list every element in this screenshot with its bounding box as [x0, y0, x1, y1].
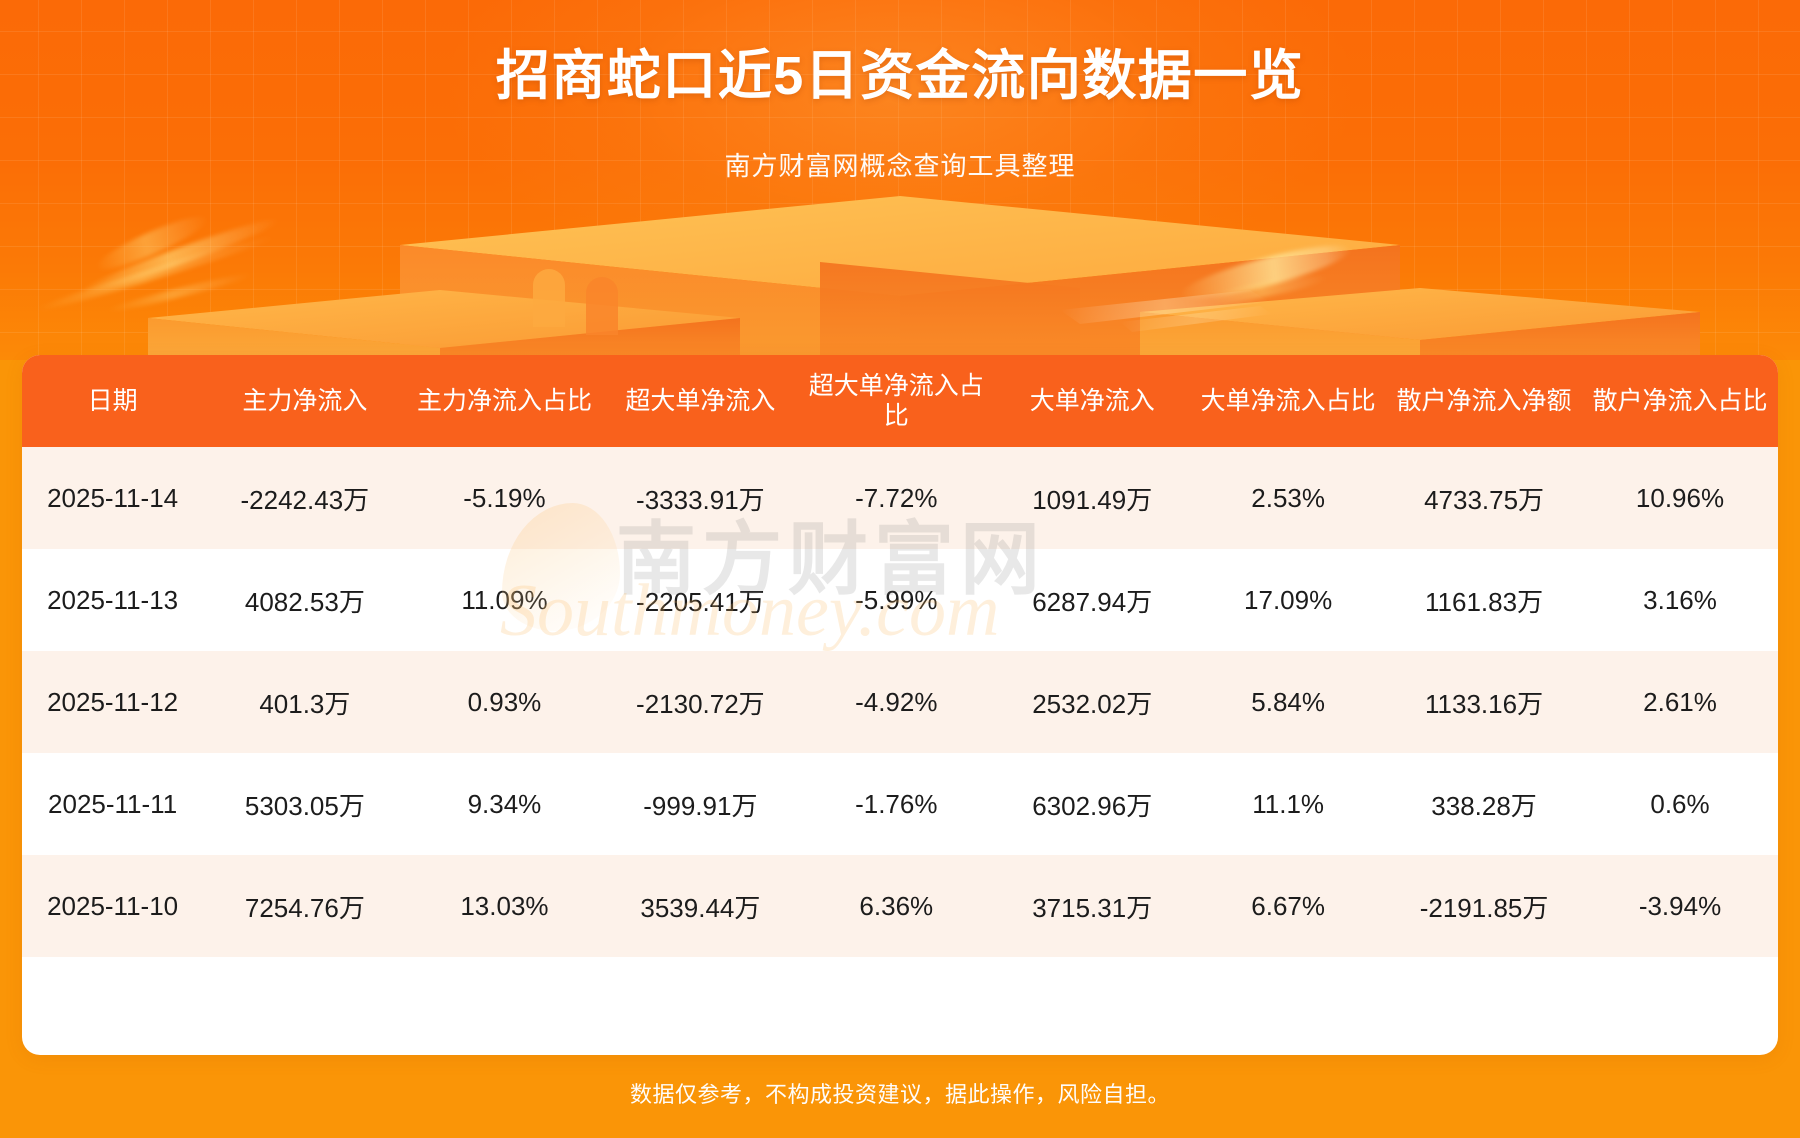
- table-row: 2025-11-134082.53万11.09%-2205.41万-5.99%6…: [22, 549, 1778, 651]
- cell-value: 5303.05万: [203, 753, 406, 855]
- column-header-3[interactable]: 超大单净流入: [602, 355, 798, 447]
- cell-value: 1091.49万: [994, 447, 1190, 549]
- cell-value: 6.36%: [798, 855, 994, 957]
- cell-value: 401.3万: [203, 651, 406, 753]
- page-subtitle: 南方财富网概念查询工具整理: [0, 146, 1800, 183]
- cell-value: 4733.75万: [1386, 447, 1582, 549]
- table-row: 2025-11-12401.3万0.93%-2130.72万-4.92%2532…: [22, 651, 1778, 753]
- cell-value: 11.09%: [406, 549, 602, 651]
- disclaimer-note: 数据仅参考，不构成投资建议，据此操作，风险自担。: [0, 1077, 1800, 1109]
- cell-value: -5.19%: [406, 447, 602, 549]
- cell-date: 2025-11-14: [22, 447, 203, 549]
- cell-value: 3.16%: [1582, 549, 1778, 651]
- cell-value: 13.03%: [406, 855, 602, 957]
- cell-date: 2025-11-12: [22, 651, 203, 753]
- cell-value: 6.67%: [1190, 855, 1386, 957]
- cell-date: 2025-11-13: [22, 549, 203, 651]
- cell-value: 5.84%: [1190, 651, 1386, 753]
- cell-value: -3333.91万: [602, 447, 798, 549]
- column-header-5[interactable]: 大单净流入: [994, 355, 1190, 447]
- cell-value: 3539.44万: [602, 855, 798, 957]
- cell-value: 0.93%: [406, 651, 602, 753]
- cell-value: -2242.43万: [203, 447, 406, 549]
- table-row: 2025-11-14-2242.43万-5.19%-3333.91万-7.72%…: [22, 447, 1778, 549]
- fund-flow-table: 日期主力净流入主力净流入占比超大单净流入超大单净流入占比大单净流入大单净流入占比…: [22, 355, 1778, 957]
- column-header-7[interactable]: 散户净流入净额: [1386, 355, 1582, 447]
- cell-value: 4082.53万: [203, 549, 406, 651]
- cell-value: 0.6%: [1582, 753, 1778, 855]
- page-title: 招商蛇口近5日资金流向数据一览: [0, 44, 1800, 109]
- cell-value: 2.53%: [1190, 447, 1386, 549]
- cell-value: 6287.94万: [994, 549, 1190, 651]
- cell-value: 10.96%: [1582, 447, 1778, 549]
- cell-value: -4.92%: [798, 651, 994, 753]
- table-head: 日期主力净流入主力净流入占比超大单净流入超大单净流入占比大单净流入大单净流入占比…: [22, 355, 1778, 447]
- column-header-6[interactable]: 大单净流入占比: [1190, 355, 1386, 447]
- table-header-row: 日期主力净流入主力净流入占比超大单净流入超大单净流入占比大单净流入大单净流入占比…: [22, 355, 1778, 447]
- cell-value: 9.34%: [406, 753, 602, 855]
- cell-value: -2205.41万: [602, 549, 798, 651]
- column-header-1[interactable]: 主力净流入: [203, 355, 406, 447]
- column-header-4[interactable]: 超大单净流入占比: [798, 355, 994, 447]
- cell-value: 11.1%: [1190, 753, 1386, 855]
- cell-value: 1161.83万: [1386, 549, 1582, 651]
- cell-value: -3.94%: [1582, 855, 1778, 957]
- cell-value: -2191.85万: [1386, 855, 1582, 957]
- cell-value: -7.72%: [798, 447, 994, 549]
- table-body: 2025-11-14-2242.43万-5.19%-3333.91万-7.72%…: [22, 447, 1778, 957]
- column-header-2[interactable]: 主力净流入占比: [406, 355, 602, 447]
- cell-value: 2.61%: [1582, 651, 1778, 753]
- cell-value: 6302.96万: [994, 753, 1190, 855]
- column-header-0[interactable]: 日期: [22, 355, 203, 447]
- cell-value: -1.76%: [798, 753, 994, 855]
- cell-value: -2130.72万: [602, 651, 798, 753]
- column-header-8[interactable]: 散户净流入占比: [1582, 355, 1778, 447]
- cell-value: 3715.31万: [994, 855, 1190, 957]
- page-root: 招商蛇口近5日资金流向数据一览 南方财富网概念查询工具整理 南方财富网 Sout…: [0, 0, 1800, 1138]
- cell-value: -999.91万: [602, 753, 798, 855]
- table-row: 2025-11-115303.05万9.34%-999.91万-1.76%630…: [22, 753, 1778, 855]
- cell-date: 2025-11-11: [22, 753, 203, 855]
- cell-value: 1133.16万: [1386, 651, 1582, 753]
- cell-value: -5.99%: [798, 549, 994, 651]
- cell-value: 17.09%: [1190, 549, 1386, 651]
- fund-flow-table-card: 日期主力净流入主力净流入占比超大单净流入超大单净流入占比大单净流入大单净流入占比…: [22, 355, 1778, 1055]
- cell-value: 338.28万: [1386, 753, 1582, 855]
- table-row: 2025-11-107254.76万13.03%3539.44万6.36%371…: [22, 855, 1778, 957]
- cell-value: 2532.02万: [994, 651, 1190, 753]
- cell-value: 7254.76万: [203, 855, 406, 957]
- cell-date: 2025-11-10: [22, 855, 203, 957]
